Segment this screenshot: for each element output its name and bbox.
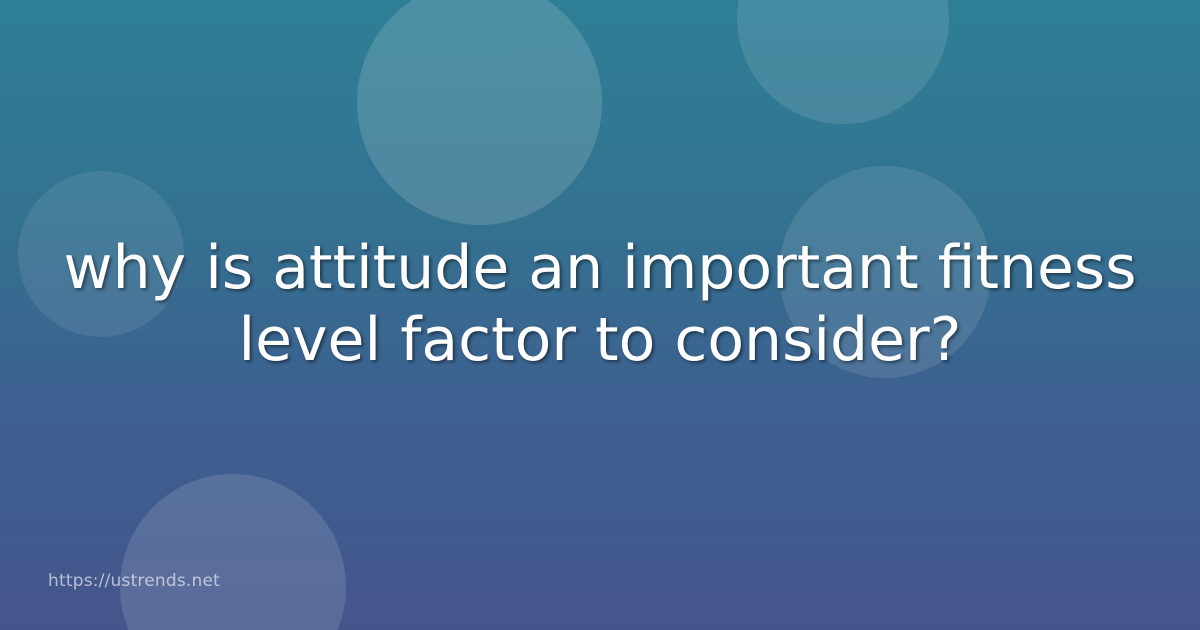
social-share-card: why is attitude an important fitness lev… xyxy=(0,0,1200,630)
circle-top-right-icon xyxy=(737,0,949,124)
site-url-label: https://ustrends.net xyxy=(48,570,220,592)
circle-bottom-icon xyxy=(120,474,346,630)
circle-hero-icon xyxy=(357,0,602,225)
page-title: why is attitude an important fitness lev… xyxy=(0,232,1200,376)
